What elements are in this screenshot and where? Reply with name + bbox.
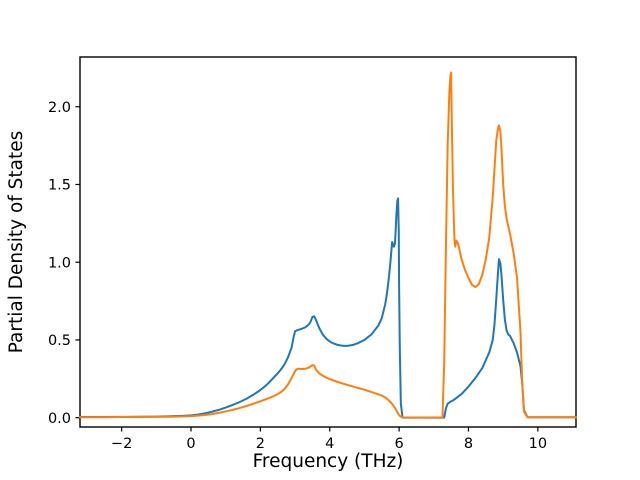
x-tick-label: 10 [529,436,547,452]
pdos-line-chart: −20246810 0.00.51.01.52.0 Frequency (THz… [0,0,640,480]
x-tick-label: 8 [464,436,473,452]
y-tick-label: 0.5 [48,333,71,349]
y-axis-label: Partial Density of States [6,131,27,354]
y-tick-label: 1.5 [48,178,71,194]
plot-area-background [80,57,576,427]
y-tick-label: 0.0 [48,411,71,427]
x-tick-label: −2 [111,436,132,452]
x-tick-label: 0 [186,436,195,452]
x-axis-label: Frequency (THz) [253,451,404,472]
x-tick-label: 2 [256,436,265,452]
chart-figure: −20246810 0.00.51.01.52.0 Frequency (THz… [0,0,640,480]
y-tick-label: 1.0 [48,255,71,271]
y-tick-label: 2.0 [48,100,71,116]
x-tick-label: 4 [325,436,334,452]
x-tick-label: 6 [394,436,403,452]
